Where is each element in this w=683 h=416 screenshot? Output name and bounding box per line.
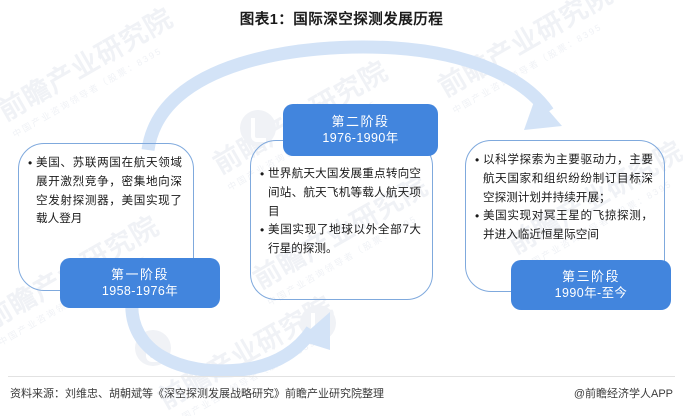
watermark-sub: 中国产业咨询领导者（股票：8395 <box>10 31 186 140</box>
stage-2-name: 第二阶段 <box>331 114 389 130</box>
watermark-logo-icon <box>135 330 171 366</box>
stage-2-badge[interactable]: 第二阶段 1976-1990年 <box>283 104 438 156</box>
list-item: 以科学探索为主要驱动力，主要航天国家和组织纷纷制订目标深空探测计划并持续开展； <box>475 151 653 207</box>
brand-note: @前瞻经济学人APP <box>574 385 673 401</box>
stage-2-body: 世界航天大国发展重点转向空间站、航天飞机等载人航天项目 美国实现了地球以外全部7… <box>251 141 432 267</box>
stage-1-body: 美国、苏联两国在航天领域展开激烈竞争，密集地向深空发射探测器，美国实现了载人登月 <box>19 144 193 237</box>
stage-1-years: 1958-1976年 <box>102 284 178 299</box>
stage-3-name: 第三阶段 <box>562 269 620 285</box>
list-item: 世界航天大国发展重点转向空间站、航天飞机等载人航天项目 <box>260 165 421 221</box>
stage-3-bullets: 以科学探索为主要驱动力，主要航天国家和组织纷纷制订目标深空探测计划并持续开展； … <box>475 151 653 245</box>
stage-3-badge[interactable]: 第三阶段 1990年-至今 <box>511 260 671 310</box>
stage-1-bullets: 美国、苏联两国在航天领域展开激烈竞争，密集地向深空发射探测器，美国实现了载人登月 <box>28 154 182 229</box>
stage-2-bullets: 世界航天大国发展重点转向空间站、航天飞机等载人航天项目 美国实现了地球以外全部7… <box>260 165 421 259</box>
stage-2-card: 世界航天大国发展重点转向空间站、航天飞机等载人航天项目 美国实现了地球以外全部7… <box>250 140 433 300</box>
watermark-sub: 中国产业咨询领导者（股票：8395 <box>170 319 346 416</box>
stage-3-body: 以科学探索为主要驱动力，主要航天国家和组织纷纷制订目标深空探测计划并持续开展； … <box>466 141 664 253</box>
page-title: 图表1：国际深空探测发展历程 <box>0 8 683 29</box>
stage-2-years: 1976-1990年 <box>322 131 398 146</box>
footer: 资料来源：刘维忠、胡朝斌等《深空探测发展战略研究》前瞻产业研究院整理 @前瞻经济… <box>10 385 673 401</box>
list-item: 美国、苏联两国在航天领域展开激烈竞争，密集地向深空发射探测器，美国实现了载人登月 <box>28 154 182 229</box>
footer-divider <box>8 376 675 377</box>
list-item: 美国实现了地球以外全部7大行星的探测。 <box>260 221 421 259</box>
watermark-logo-icon <box>300 305 336 341</box>
source-note: 资料来源：刘维忠、胡朝斌等《深空探测发展战略研究》前瞻产业研究院整理 <box>10 385 384 401</box>
stage-3-years: 1990年-至今 <box>555 286 628 301</box>
arrow-stage1-to-stage2-bottom <box>132 300 330 371</box>
stage-1-name: 第一阶段 <box>111 267 169 283</box>
list-item: 美国实现对冥王星的飞掠探测，并进入临近恒星际空间 <box>475 207 653 245</box>
stage-1-badge[interactable]: 第一阶段 1958-1976年 <box>60 258 220 308</box>
